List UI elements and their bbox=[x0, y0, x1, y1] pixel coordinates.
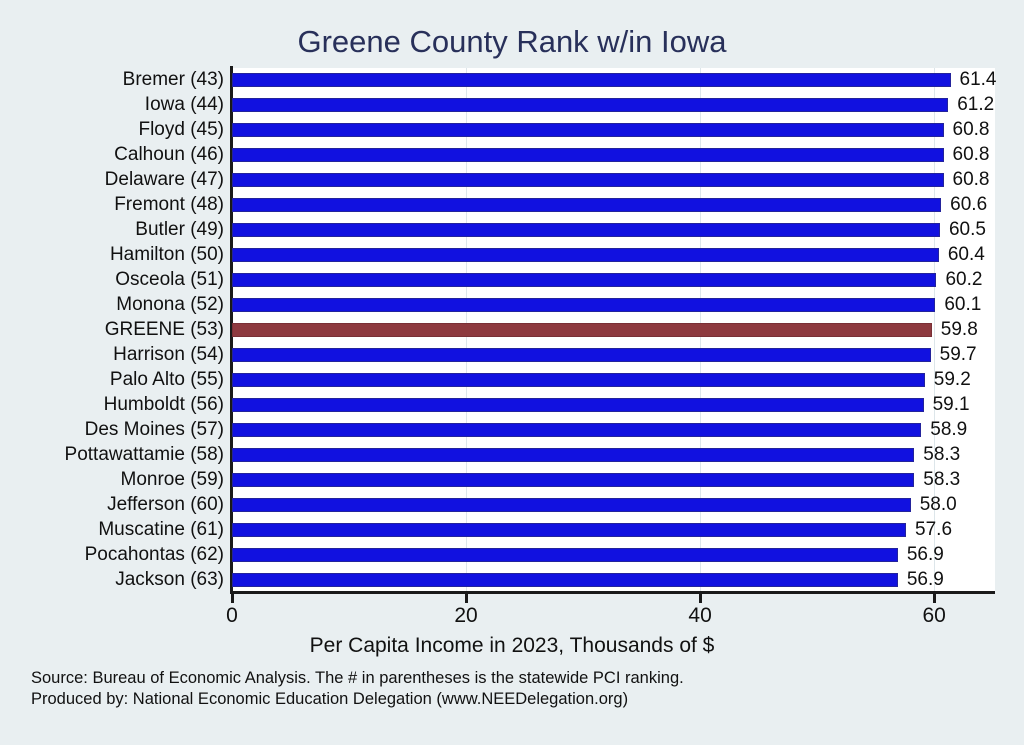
bar-row: Pocahontas (62)56.9 bbox=[0, 542, 1024, 567]
bar-category-label: Monroe (59) bbox=[121, 469, 233, 491]
bar-row: Bremer (43)61.4 bbox=[0, 68, 1024, 93]
bar-category-label: Butler (49) bbox=[135, 219, 232, 241]
bar bbox=[232, 223, 940, 237]
bar-category-label: Delaware (47) bbox=[105, 169, 232, 191]
bar bbox=[232, 398, 924, 412]
bar-category-label: Monona (52) bbox=[116, 294, 232, 316]
bar-category-label: Floyd (45) bbox=[138, 119, 232, 141]
bar-row: Osceola (51)60.2 bbox=[0, 268, 1024, 293]
bar bbox=[232, 148, 944, 162]
bar-value-label: 59.7 bbox=[931, 344, 977, 366]
bar-value-label: 60.6 bbox=[941, 194, 987, 216]
bar-value-label: 60.8 bbox=[944, 119, 990, 141]
bar-category-label: Hamilton (50) bbox=[110, 244, 232, 266]
bar bbox=[232, 173, 944, 187]
x-tick-mark bbox=[465, 592, 468, 603]
bar bbox=[232, 98, 948, 112]
bar-row: Calhoun (46)60.8 bbox=[0, 143, 1024, 168]
bar-value-label: 56.9 bbox=[898, 544, 944, 566]
bar-value-label: 58.0 bbox=[911, 494, 957, 516]
x-axis-title: Per Capita Income in 2023, Thousands of … bbox=[0, 634, 1024, 658]
bar bbox=[232, 273, 936, 287]
bar bbox=[232, 548, 898, 562]
bar bbox=[232, 348, 931, 362]
bar-category-label: Calhoun (46) bbox=[114, 144, 232, 166]
x-tick-label: 40 bbox=[688, 604, 711, 628]
footer-line-producer: Produced by: National Economic Education… bbox=[31, 689, 684, 710]
bar-category-label: Fremont (48) bbox=[114, 194, 232, 216]
bar-row: Iowa (44)61.2 bbox=[0, 93, 1024, 118]
bar-value-label: 56.9 bbox=[898, 569, 944, 591]
bar bbox=[232, 298, 935, 312]
bar-row: Humboldt (56)59.1 bbox=[0, 392, 1024, 417]
bar-category-label: Osceola (51) bbox=[115, 269, 232, 291]
bar-value-label: 57.6 bbox=[906, 519, 952, 541]
bar-row: Jackson (63)56.9 bbox=[0, 567, 1024, 592]
bar-row: Floyd (45)60.8 bbox=[0, 118, 1024, 143]
bar-rows: Bremer (43)61.4Iowa (44)61.2Floyd (45)60… bbox=[0, 68, 1024, 592]
bar-row: Jefferson (60)58.0 bbox=[0, 492, 1024, 517]
bar-row: Des Moines (57)58.9 bbox=[0, 417, 1024, 442]
bar-row: Muscatine (61)57.6 bbox=[0, 517, 1024, 542]
bar-row: Delaware (47)60.8 bbox=[0, 168, 1024, 193]
bar-category-label: Harrison (54) bbox=[113, 344, 232, 366]
bar-row: Pottawattamie (58)58.3 bbox=[0, 442, 1024, 467]
bar-category-label: Des Moines (57) bbox=[85, 419, 232, 441]
bar-value-label: 58.3 bbox=[914, 444, 960, 466]
bar-row: Palo Alto (55)59.2 bbox=[0, 367, 1024, 392]
bar-chart: Greene County Rank w/in Iowa Bremer (43)… bbox=[0, 0, 1024, 745]
bar-row: Harrison (54)59.7 bbox=[0, 342, 1024, 367]
bar-category-label: Palo Alto (55) bbox=[110, 369, 232, 391]
bar-row: Butler (49)60.5 bbox=[0, 218, 1024, 243]
x-tick-label: 20 bbox=[454, 604, 477, 628]
bar-value-label: 60.8 bbox=[944, 144, 990, 166]
bar-value-label: 61.4 bbox=[951, 69, 997, 91]
bar-value-label: 59.8 bbox=[932, 319, 978, 341]
x-tick-mark bbox=[933, 592, 936, 603]
bar bbox=[232, 523, 906, 537]
bar-category-label: Pottawattamie (58) bbox=[65, 444, 232, 466]
bar bbox=[232, 498, 911, 512]
bar bbox=[232, 423, 921, 437]
bar-row: GREENE (53)59.8 bbox=[0, 318, 1024, 343]
bar-category-label: Iowa (44) bbox=[145, 94, 232, 116]
bar bbox=[232, 73, 951, 87]
bar bbox=[232, 573, 898, 587]
bar-highlighted bbox=[232, 323, 932, 337]
bar-category-label: Bremer (43) bbox=[123, 69, 232, 91]
bar-value-label: 60.5 bbox=[940, 219, 986, 241]
bar-category-label: GREENE (53) bbox=[105, 319, 232, 341]
footer-note: Source: Bureau of Economic Analysis. The… bbox=[31, 668, 684, 710]
bar-row: Hamilton (50)60.4 bbox=[0, 243, 1024, 268]
bar bbox=[232, 248, 939, 262]
bar-category-label: Jefferson (60) bbox=[107, 494, 232, 516]
bar-value-label: 60.1 bbox=[935, 294, 981, 316]
bar-value-label: 61.2 bbox=[948, 94, 994, 116]
bar-row: Fremont (48)60.6 bbox=[0, 193, 1024, 218]
chart-title: Greene County Rank w/in Iowa bbox=[0, 24, 1024, 60]
bar-value-label: 58.9 bbox=[921, 419, 967, 441]
bar-category-label: Pocahontas (62) bbox=[85, 544, 232, 566]
bar-value-label: 59.2 bbox=[925, 369, 971, 391]
bar-value-label: 59.1 bbox=[924, 394, 970, 416]
bar bbox=[232, 373, 925, 387]
bar-row: Monroe (59)58.3 bbox=[0, 467, 1024, 492]
bar bbox=[232, 198, 941, 212]
x-tick-mark bbox=[699, 592, 702, 603]
x-tick-label: 60 bbox=[922, 604, 945, 628]
bar-value-label: 60.8 bbox=[944, 169, 990, 191]
bar-category-label: Jackson (63) bbox=[115, 569, 232, 591]
bar-category-label: Muscatine (61) bbox=[98, 519, 232, 541]
x-tick-mark bbox=[231, 592, 234, 603]
bar-value-label: 60.2 bbox=[936, 269, 982, 291]
bar bbox=[232, 473, 914, 487]
bar-value-label: 58.3 bbox=[914, 469, 960, 491]
bar bbox=[232, 448, 914, 462]
bar-row: Monona (52)60.1 bbox=[0, 293, 1024, 318]
bar-category-label: Humboldt (56) bbox=[104, 394, 232, 416]
footer-line-source: Source: Bureau of Economic Analysis. The… bbox=[31, 668, 684, 689]
bar bbox=[232, 123, 944, 137]
x-tick-label: 0 bbox=[226, 604, 238, 628]
bar-value-label: 60.4 bbox=[939, 244, 985, 266]
